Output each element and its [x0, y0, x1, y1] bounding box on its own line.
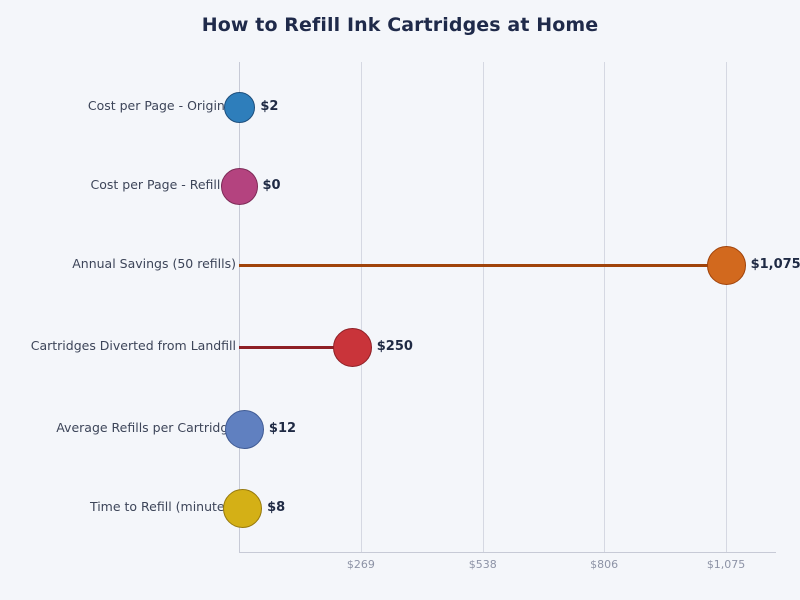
value-label: $2 — [260, 99, 278, 114]
lollipop-marker[interactable] — [225, 410, 264, 449]
category-label: Annual Savings (50 refills) — [0, 256, 236, 271]
chart-root: How to Refill Ink Cartridges at Home $26… — [0, 0, 800, 600]
gridline — [604, 62, 605, 552]
x-tick-label: $1,075 — [707, 558, 746, 571]
category-label: Time to Refill (minutes) — [0, 499, 236, 514]
lollipop-marker[interactable] — [333, 328, 372, 367]
x-tick-label: $269 — [347, 558, 375, 571]
axis-baseline — [239, 62, 240, 552]
value-label: $12 — [269, 421, 296, 436]
category-label: Cost per Page - Refilled — [0, 177, 236, 192]
chart-title: How to Refill Ink Cartridges at Home — [0, 14, 800, 36]
lollipop-marker[interactable] — [707, 246, 746, 285]
x-axis-line — [239, 552, 776, 553]
lollipop-marker[interactable] — [221, 168, 258, 205]
category-label: Cartridges Diverted from Landfill — [0, 338, 236, 353]
value-label: $0 — [263, 178, 281, 193]
category-label: Average Refills per Cartridge — [0, 420, 236, 435]
lollipop-marker[interactable] — [224, 92, 255, 123]
gridline — [726, 62, 727, 552]
plot-area — [239, 62, 775, 552]
lollipop-marker[interactable] — [223, 489, 262, 528]
gridline — [483, 62, 484, 552]
value-label: $1,075 — [751, 257, 800, 272]
x-tick-label: $538 — [469, 558, 497, 571]
lollipop-stem — [239, 264, 726, 267]
value-label: $250 — [377, 339, 413, 354]
value-label: $8 — [267, 500, 285, 515]
x-tick-label: $806 — [590, 558, 618, 571]
category-label: Cost per Page - Original — [0, 98, 236, 113]
gridline — [361, 62, 362, 552]
